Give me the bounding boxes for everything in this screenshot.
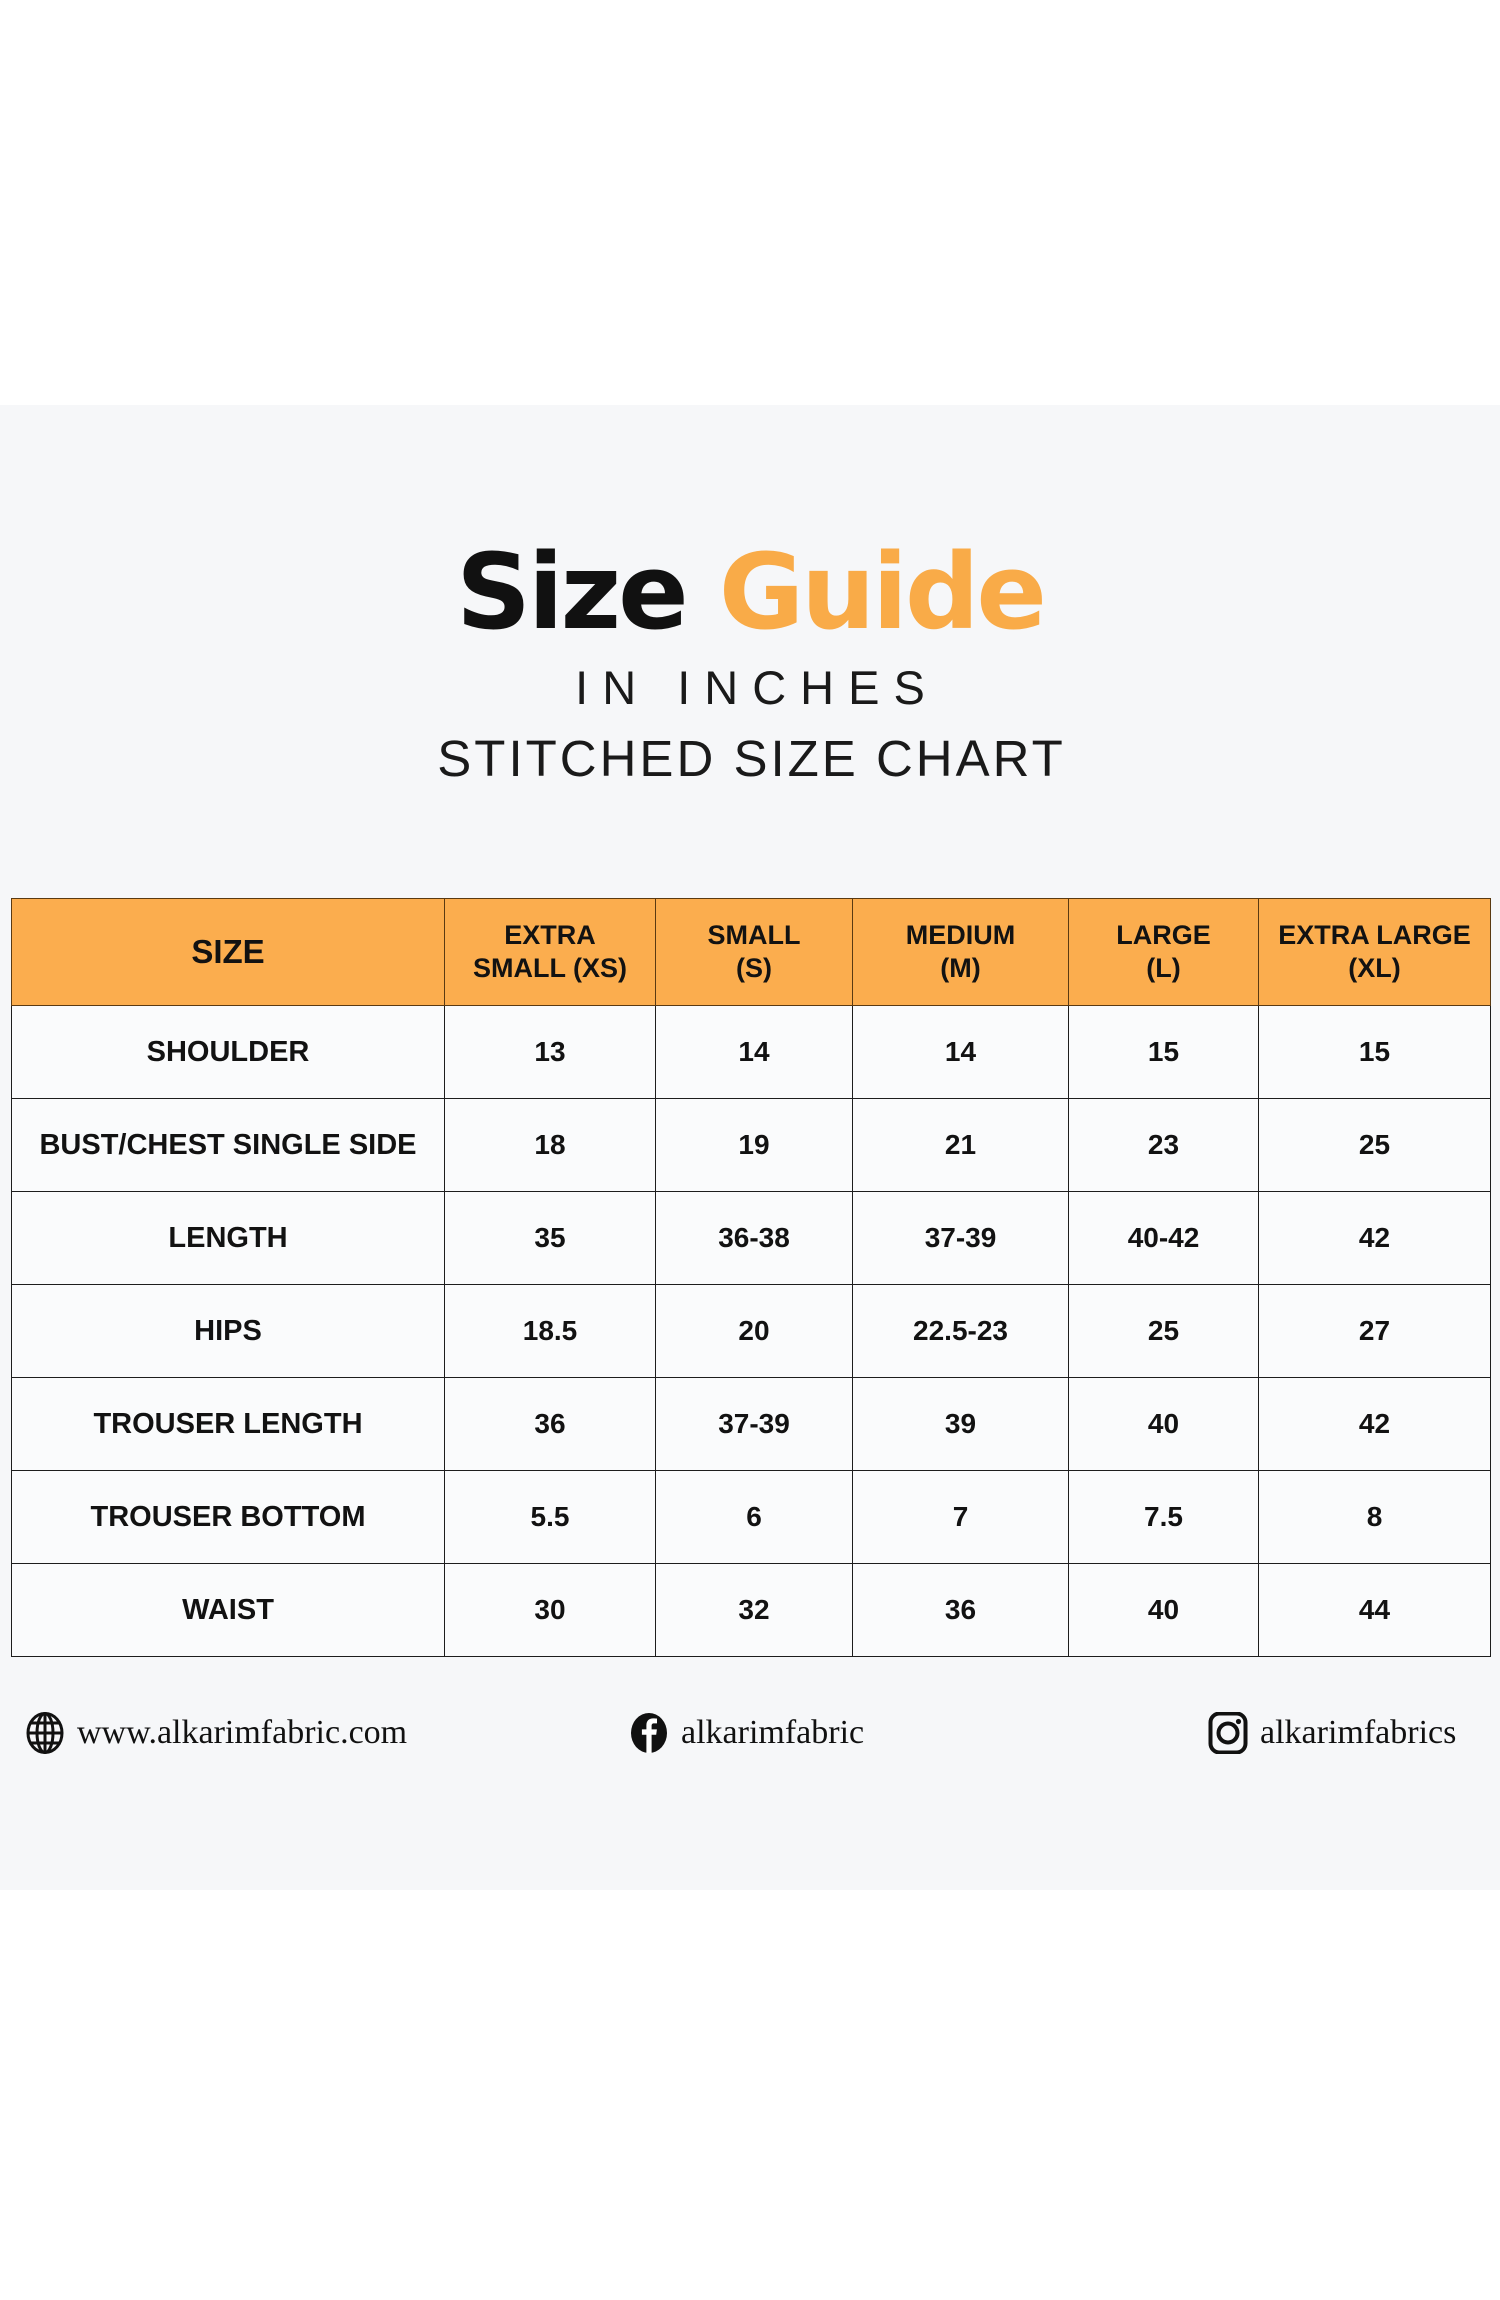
table-row: HIPS 18.5 20 22.5-23 25 27 xyxy=(12,1285,1491,1378)
cell-waist-s: 32 xyxy=(656,1564,853,1657)
cell-hips-m: 22.5-23 xyxy=(853,1285,1069,1378)
column-header-size-line1: SIZE xyxy=(14,932,442,972)
column-header-size: SIZE xyxy=(12,899,445,1006)
cell-shoulder-m: 14 xyxy=(853,1006,1069,1099)
page-title-part-guide: Guide xyxy=(719,531,1044,653)
cell-length-m: 37-39 xyxy=(853,1192,1069,1285)
cell-hips-xs: 18.5 xyxy=(445,1285,656,1378)
column-header-s-line2: (S) xyxy=(658,952,850,985)
row-label-trouser-bottom: TROUSER BOTTOM xyxy=(12,1471,445,1564)
cell-trouser-length-m: 39 xyxy=(853,1378,1069,1471)
cell-shoulder-l: 15 xyxy=(1069,1006,1259,1099)
footer-facebook-text: alkarimfabric xyxy=(681,1714,864,1752)
column-header-xs-line2: SMALL (XS) xyxy=(447,952,653,985)
column-header-s-line1: SMALL xyxy=(658,919,850,952)
row-label-shoulder: SHOULDER xyxy=(12,1006,445,1099)
row-label-bust-chest: BUST/CHEST SINGLE SIDE xyxy=(12,1099,445,1192)
cell-waist-xl: 44 xyxy=(1259,1564,1491,1657)
column-header-m-line1: MEDIUM xyxy=(855,919,1066,952)
cell-trouser-length-xs: 36 xyxy=(445,1378,656,1471)
globe-icon xyxy=(24,1712,66,1754)
cell-bust-xl: 25 xyxy=(1259,1099,1491,1192)
table-header-row: SIZE EXTRA SMALL (XS) SMALL (S) MEDIUM (… xyxy=(12,899,1491,1006)
column-header-xl-line1: EXTRA LARGE xyxy=(1261,919,1488,952)
cell-length-l: 40-42 xyxy=(1069,1192,1259,1285)
row-label-trouser-length: TROUSER LENGTH xyxy=(12,1378,445,1471)
column-header-l-line1: LARGE xyxy=(1071,919,1256,952)
cell-hips-s: 20 xyxy=(656,1285,853,1378)
cell-trouser-length-xl: 42 xyxy=(1259,1378,1491,1471)
subtitle-units: IN INCHES xyxy=(0,660,1500,715)
size-guide-page: Size Guide IN INCHES STITCHED SIZE CHART… xyxy=(0,0,1500,2300)
table-row: TROUSER BOTTOM 5.5 6 7 7.5 8 xyxy=(12,1471,1491,1564)
cell-length-s: 36-38 xyxy=(656,1192,853,1285)
column-header-m-line2: (M) xyxy=(855,952,1066,985)
cell-length-xs: 35 xyxy=(445,1192,656,1285)
cell-length-xl: 42 xyxy=(1259,1192,1491,1285)
cell-bust-m: 21 xyxy=(853,1099,1069,1192)
cell-bust-xs: 18 xyxy=(445,1099,656,1192)
column-header-m: MEDIUM (M) xyxy=(853,899,1069,1006)
table-row: LENGTH 35 36-38 37-39 40-42 42 xyxy=(12,1192,1491,1285)
facebook-icon xyxy=(628,1712,670,1754)
row-label-waist: WAIST xyxy=(12,1564,445,1657)
table-row: SHOULDER 13 14 14 15 15 xyxy=(12,1006,1491,1099)
footer-website[interactable]: www.alkarimfabric.com xyxy=(24,1712,407,1754)
footer: www.alkarimfabric.com alkarimfabric alka… xyxy=(0,1712,1500,1782)
table-row: WAIST 30 32 36 40 44 xyxy=(12,1564,1491,1657)
table-row: TROUSER LENGTH 36 37-39 39 40 42 xyxy=(12,1378,1491,1471)
table-header: SIZE EXTRA SMALL (XS) SMALL (S) MEDIUM (… xyxy=(12,899,1491,1006)
column-header-xl: EXTRA LARGE (XL) xyxy=(1259,899,1491,1006)
row-label-hips: HIPS xyxy=(12,1285,445,1378)
size-chart-table: SIZE EXTRA SMALL (XS) SMALL (S) MEDIUM (… xyxy=(11,898,1491,1657)
footer-instagram[interactable]: alkarimfabrics xyxy=(1207,1712,1456,1754)
row-label-length: LENGTH xyxy=(12,1192,445,1285)
cell-trouser-bottom-m: 7 xyxy=(853,1471,1069,1564)
cell-shoulder-s: 14 xyxy=(656,1006,853,1099)
column-header-xs: EXTRA SMALL (XS) xyxy=(445,899,656,1006)
cell-shoulder-xl: 15 xyxy=(1259,1006,1491,1099)
cell-waist-m: 36 xyxy=(853,1564,1069,1657)
column-header-l: LARGE (L) xyxy=(1069,899,1259,1006)
page-title: Size Guide xyxy=(0,540,1500,644)
page-title-part-size: Size xyxy=(456,531,719,653)
cell-hips-xl: 27 xyxy=(1259,1285,1491,1378)
cell-trouser-bottom-xl: 8 xyxy=(1259,1471,1491,1564)
column-header-xl-line2: (XL) xyxy=(1261,952,1488,985)
cell-trouser-length-s: 37-39 xyxy=(656,1378,853,1471)
footer-website-text: www.alkarimfabric.com xyxy=(77,1714,407,1752)
cell-trouser-bottom-s: 6 xyxy=(656,1471,853,1564)
table-body: SHOULDER 13 14 14 15 15 BUST/CHEST SINGL… xyxy=(12,1006,1491,1657)
cell-trouser-length-l: 40 xyxy=(1069,1378,1259,1471)
column-header-s: SMALL (S) xyxy=(656,899,853,1006)
subtitle-chart-type: STITCHED SIZE CHART xyxy=(0,729,1500,788)
cell-bust-s: 19 xyxy=(656,1099,853,1192)
column-header-xs-line1: EXTRA xyxy=(447,919,653,952)
cell-waist-xs: 30 xyxy=(445,1564,656,1657)
column-header-l-line2: (L) xyxy=(1071,952,1256,985)
table-row: BUST/CHEST SINGLE SIDE 18 19 21 23 25 xyxy=(12,1099,1491,1192)
cell-shoulder-xs: 13 xyxy=(445,1006,656,1099)
cell-hips-l: 25 xyxy=(1069,1285,1259,1378)
header-block: Size Guide IN INCHES STITCHED SIZE CHART xyxy=(0,540,1500,788)
cell-trouser-bottom-l: 7.5 xyxy=(1069,1471,1259,1564)
footer-instagram-text: alkarimfabrics xyxy=(1260,1714,1456,1752)
cell-waist-l: 40 xyxy=(1069,1564,1259,1657)
footer-facebook[interactable]: alkarimfabric xyxy=(628,1712,864,1754)
cell-bust-l: 23 xyxy=(1069,1099,1259,1192)
cell-trouser-bottom-xs: 5.5 xyxy=(445,1471,656,1564)
instagram-icon xyxy=(1207,1712,1249,1754)
